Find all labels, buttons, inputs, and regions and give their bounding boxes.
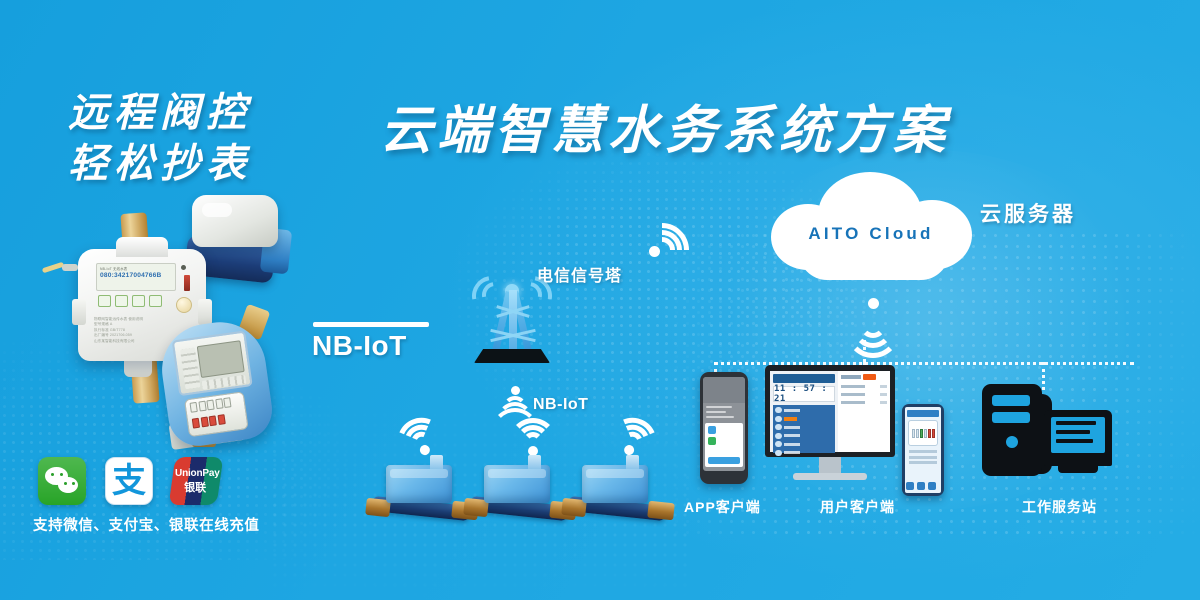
slogan-line-2: 轻松抄表 <box>68 139 252 190</box>
cloud-server-label: 云服务器 <box>980 198 1076 228</box>
reader-rows <box>907 450 939 464</box>
monitor-clock: 11 : 57 : 21 <box>773 386 835 402</box>
wechat-eye <box>51 473 54 476</box>
meter-body <box>484 465 550 503</box>
wechat-eye <box>64 482 67 485</box>
cloud-item-icon <box>775 407 782 413</box>
reader-buttons[interactable] <box>906 482 936 490</box>
page-title: 云端智慧水务系统方案 <box>380 88 950 163</box>
row-value <box>880 393 887 396</box>
odometer-digit <box>209 415 217 426</box>
connector-cloud-stem <box>863 340 866 362</box>
unionpay-icon[interactable]: UnionPay 银联 <box>169 457 224 505</box>
reader-row <box>909 450 937 453</box>
wire-strand <box>42 262 64 274</box>
wave-dot <box>511 386 520 395</box>
meter-antenna-cap <box>626 455 639 469</box>
meter-status-icon <box>149 295 162 307</box>
meter-antenna-cap <box>528 455 541 469</box>
alipay-glyph: 支 <box>112 464 146 498</box>
meter-body <box>582 465 648 503</box>
list-item-text <box>784 451 800 454</box>
monitor-device-list <box>773 405 835 453</box>
odometer-digit <box>223 397 231 408</box>
monitor-list-item[interactable] <box>775 441 833 447</box>
reader-button[interactable] <box>906 482 914 490</box>
row-label <box>841 393 865 396</box>
meter-display-id: 080:34217004766B <box>100 272 172 279</box>
monitor-titlebar <box>773 374 835 383</box>
odometer-digit <box>206 400 214 411</box>
phone-text-line <box>706 416 734 419</box>
slogan: 远程阀控 轻松抄表 <box>68 88 252 190</box>
poster-canvas: 远程阀控 轻松抄表 云端智慧水务系统方案 AITO Cloud 云服务器 <box>0 0 1200 600</box>
cloud-item-icon <box>775 424 782 430</box>
cloud-item-icon <box>775 416 782 422</box>
monitor-bezel: 11 : 57 : 21 <box>765 365 895 457</box>
monitor-stand <box>793 473 867 480</box>
work-service-station-graphic <box>982 384 1112 489</box>
reader-digit <box>916 429 919 438</box>
meter-keypad-bottom[interactable] <box>202 375 247 390</box>
monitor-data-row <box>841 401 887 404</box>
reader-button[interactable] <box>917 482 925 490</box>
odometer-digit <box>200 417 208 428</box>
cloud-server-graphic: AITO Cloud <box>766 172 976 284</box>
hero-water-meters: NB-IoT 无线水表 080:34217004766B 物联网智能远传水表 使… <box>28 195 328 445</box>
meter-antenna-cap <box>430 455 443 469</box>
meter-body <box>386 465 452 503</box>
cloud-item-icon <box>775 433 782 439</box>
reader-digit <box>920 429 923 438</box>
wechat-eye <box>60 473 63 476</box>
reader-screen <box>905 407 941 493</box>
client-label-app: APP客户端 <box>684 497 761 517</box>
monitor-neck <box>819 457 841 473</box>
odometer-digit <box>198 401 206 412</box>
odometer-digit <box>192 418 200 429</box>
monitor-data-row <box>841 393 887 396</box>
handheld-meter-reader <box>902 404 944 496</box>
wave-arc <box>846 304 900 358</box>
monitor-right-column <box>838 371 890 452</box>
cloud-item-icon <box>775 450 782 456</box>
tower-label: 电信信号塔 <box>537 262 622 286</box>
monitor-left-column: 11 : 57 : 21 <box>770 371 838 452</box>
slogan-line-1: 远程阀控 <box>68 88 252 139</box>
cloud-brand-label: AITO Cloud <box>766 224 976 244</box>
meter-keypad-panel <box>172 330 253 396</box>
phone-confirm-button[interactable] <box>708 457 740 464</box>
list-item-text <box>784 409 800 412</box>
reader-digit <box>932 429 935 438</box>
app-client-phone <box>700 372 748 484</box>
odometer-digit <box>215 398 223 409</box>
payment-methods: 支 UnionPay 银联 <box>38 457 220 505</box>
row-value <box>880 385 887 388</box>
client-label-user: 用户客户端 <box>820 497 895 517</box>
field-water-meter <box>368 455 476 525</box>
meter-brass-fitting <box>647 501 675 521</box>
meter-display-caption: NB-IoT 无线水表 <box>100 266 172 271</box>
reader-odometer <box>908 420 938 446</box>
workstation-monitor <box>1044 410 1112 466</box>
wire-connector <box>62 264 78 271</box>
monitor-list-item[interactable] <box>775 416 833 422</box>
tower-mast <box>466 290 558 360</box>
workstation-tower <box>982 384 1042 476</box>
reader-row <box>909 456 937 459</box>
unionpay-wordmark: UnionPay <box>175 468 220 479</box>
field-water-meter <box>564 455 672 525</box>
tower-base <box>474 349 550 363</box>
workstation-drive-slot <box>992 412 1030 423</box>
list-item-text <box>784 434 800 437</box>
reader-digit <box>928 429 931 438</box>
screen-line <box>1056 421 1096 425</box>
monitor-screen: 11 : 57 : 21 <box>770 371 890 452</box>
list-item-text <box>784 443 800 446</box>
phone-text-line <box>706 406 732 409</box>
meter-battery-indicator <box>184 275 190 291</box>
phone-screen <box>703 377 745 471</box>
monitor-list-item[interactable] <box>775 450 833 456</box>
wechat-pay-icon[interactable] <box>38 457 86 505</box>
meter-antenna-wire <box>42 261 86 275</box>
nbiot-secondary-label: NB-IoT <box>533 396 588 414</box>
row-label <box>841 401 865 404</box>
meter-display: NB-IoT 无线水表 080:34217004766B <box>96 263 176 291</box>
signal-wave-downlink-icon <box>838 298 908 356</box>
meter-status-icons <box>98 295 162 307</box>
screen-line <box>1056 430 1090 434</box>
cloud-item-icon <box>775 441 782 447</box>
workstation-monitor-stand <box>1058 466 1098 473</box>
reader-digit <box>912 429 915 438</box>
list-item-text-active <box>784 417 797 421</box>
workstation-screen <box>1051 417 1105 453</box>
meter-status-icon <box>115 295 128 307</box>
payment-caption: 支持微信、支付宝、银联在线充值 <box>33 514 260 535</box>
meter-lug <box>72 299 86 325</box>
nbiot-underline <box>313 322 429 327</box>
screen-line <box>1056 439 1093 443</box>
monitor-data-row <box>841 385 887 388</box>
reader-row <box>909 461 937 464</box>
workstation-power-button[interactable] <box>1006 436 1018 448</box>
reader-header <box>907 410 939 417</box>
reader-digit <box>924 429 927 438</box>
meter-status-icon <box>98 295 111 307</box>
phone-statusbar <box>703 377 745 403</box>
odometer-digit <box>217 414 225 425</box>
monitor-list-item[interactable] <box>775 407 833 413</box>
user-client-monitor: 11 : 57 : 21 <box>765 365 895 490</box>
field-water-meter <box>466 455 574 525</box>
toolbar-text <box>841 375 861 379</box>
client-label-station: 工作服务站 <box>1022 497 1097 517</box>
reader-button[interactable] <box>928 482 936 490</box>
wechat-bubble-small <box>58 477 78 493</box>
unionpay-chinese: 银联 <box>184 479 206 495</box>
monitor-list-item[interactable] <box>775 424 833 430</box>
wifi-signal-icon <box>505 418 561 458</box>
wave-arc <box>624 212 700 288</box>
prepaid-card-water-meter <box>164 307 296 443</box>
odometer-digit <box>190 402 198 413</box>
meter-led-indicator <box>181 265 186 270</box>
phone-card-icon <box>708 426 716 434</box>
telecom-tower-graphic <box>466 272 558 380</box>
phone-card-icon <box>708 437 716 445</box>
signal-wave-to-cloud-icon <box>645 218 725 284</box>
phone-text-line <box>706 411 726 414</box>
monitor-list-item[interactable] <box>775 433 833 439</box>
meter-odometer <box>184 391 249 437</box>
wechat-eye <box>72 482 75 485</box>
alipay-icon[interactable]: 支 <box>105 457 153 505</box>
meter-lcd <box>197 340 245 378</box>
monitor-toolbar <box>841 374 887 380</box>
meter-status-icon <box>132 295 145 307</box>
workstation-drive-slot <box>992 395 1030 406</box>
phone-payment-card <box>705 423 743 467</box>
toolbar-action-button[interactable] <box>863 374 876 380</box>
list-item-text <box>784 426 800 429</box>
row-label <box>841 385 865 388</box>
row-value <box>880 401 887 404</box>
